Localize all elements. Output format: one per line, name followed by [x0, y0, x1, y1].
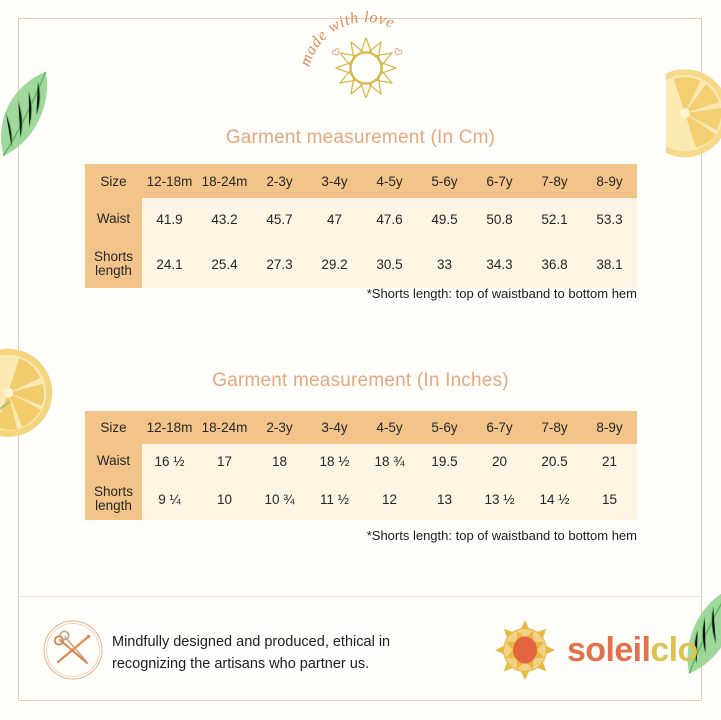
brand-wordmark: soleilclo: [567, 633, 698, 667]
column-header: 4-5y: [362, 411, 417, 444]
column-header: 5-6y: [417, 411, 472, 444]
table-cell: 11 ½: [307, 478, 362, 520]
column-header: 18-24m: [197, 411, 252, 444]
table-cell: 18 ½: [307, 444, 362, 478]
column-header: 18-24m: [197, 164, 252, 198]
table-cell: 49.5: [417, 198, 472, 240]
column-header: 3-4y: [307, 411, 362, 444]
row-header: Waist: [85, 444, 142, 478]
table-cell: 47: [307, 198, 362, 240]
table-cell: 30.5: [362, 240, 417, 288]
table-cell: 25.4: [197, 240, 252, 288]
section-title-inches: Garment measurement (In Inches): [0, 370, 721, 392]
table-cell: 18: [252, 444, 307, 478]
table-row: Shortslength 24.1 25.4 27.3 29.2 30.5 33…: [85, 240, 637, 288]
table-cell: 50.8: [472, 198, 527, 240]
table-cell: 38.1: [582, 240, 637, 288]
lemon-slice-icon: [0, 346, 62, 447]
table-cell: 10 ¾: [252, 478, 307, 520]
column-header: Size: [85, 164, 142, 198]
column-header: 6-7y: [472, 411, 527, 444]
table-cell: 53.3: [582, 198, 637, 240]
size-chart-page: made with love: [0, 0, 721, 720]
column-header: 12-18m: [142, 411, 197, 444]
table-cell: 52.1: [527, 198, 582, 240]
brand-name-soleil: soleil: [567, 631, 650, 669]
table-row: Waist 16 ½ 17 18 18 ½ 18 ¾ 19.5 20 20.5 …: [85, 444, 637, 478]
sun-icon: [336, 38, 396, 98]
footer-tagline-line2: recognizing the artisans who partner us.: [112, 656, 369, 672]
row-header-line2: length: [95, 498, 132, 513]
footer: Mindfully designed and produced, ethical…: [19, 600, 701, 700]
table-row: Waist 41.9 43.2 45.7 47 47.6 49.5 50.8 5…: [85, 198, 637, 240]
table-cell: 47.6: [362, 198, 417, 240]
table-cell: 33: [417, 240, 472, 288]
column-header: 3-4y: [307, 164, 362, 198]
table-header-row: Size 12-18m 18-24m 2-3y 3-4y 4-5y 5-6y 6…: [85, 411, 637, 444]
table-cell: 19.5: [417, 444, 472, 478]
made-with-love-text: made with love: [297, 9, 398, 69]
table-cell: 27.3: [252, 240, 307, 288]
table-cell: 41.9: [142, 198, 197, 240]
table-cell: 24.1: [142, 240, 197, 288]
leaf-icon: [0, 67, 80, 167]
table-cell: 18 ¾: [362, 444, 417, 478]
table-cell: 29.2: [307, 240, 362, 288]
table-cell: 16 ½: [142, 444, 197, 478]
row-header-line1: Shorts: [94, 249, 133, 264]
column-header: 6-7y: [472, 164, 527, 198]
size-table-inches: Size 12-18m 18-24m 2-3y 3-4y 4-5y 5-6y 6…: [85, 411, 637, 520]
table-row: Shortslength 9 ¼ 10 10 ¾ 11 ½ 12 13 13 ½…: [85, 478, 637, 520]
column-header: 12-18m: [142, 164, 197, 198]
table-cell: 20.5: [527, 444, 582, 478]
footer-tagline-line1: Mindfully designed and produced, ethical…: [112, 634, 390, 650]
table-cell: 14 ½: [527, 478, 582, 520]
footer-tagline: Mindfully designed and produced, ethical…: [112, 632, 482, 676]
column-header: Size: [85, 411, 142, 444]
column-header: 7-8y: [527, 411, 582, 444]
brand-name-clo: clo: [650, 631, 697, 669]
footer-divider: [19, 596, 701, 597]
row-header: Waist: [85, 198, 142, 240]
table-cell: 17: [197, 444, 252, 478]
page-border-frame: [18, 18, 702, 701]
row-header: Shortslength: [85, 478, 142, 520]
table-cell: 10: [197, 478, 252, 520]
table-cell: 21: [582, 444, 637, 478]
column-header: 4-5y: [362, 164, 417, 198]
column-header: 7-8y: [527, 164, 582, 198]
footnote-inches: *Shorts length: top of waistband to bott…: [0, 528, 637, 543]
row-header: Shortslength: [85, 240, 142, 288]
column-header: 5-6y: [417, 164, 472, 198]
made-with-love-logo: made with love: [296, 6, 436, 98]
row-header-line2: length: [95, 263, 132, 278]
table-cell: 13 ½: [472, 478, 527, 520]
table-cell: 45.7: [252, 198, 307, 240]
row-header-line1: Shorts: [94, 484, 133, 499]
table-cell: 43.2: [197, 198, 252, 240]
size-table-cm: Size 12-18m 18-24m 2-3y 3-4y 4-5y 5-6y 6…: [85, 164, 637, 288]
table-cell: 34.3: [472, 240, 527, 288]
column-header: 8-9y: [582, 164, 637, 198]
table-cell: 36.8: [527, 240, 582, 288]
svg-text:made with love: made with love: [297, 9, 398, 69]
column-header: 8-9y: [582, 411, 637, 444]
table-cell: 20: [472, 444, 527, 478]
sun-icon: [494, 619, 556, 681]
table-cell: 13: [417, 478, 472, 520]
footnote-cm: *Shorts length: top of waistband to bott…: [0, 286, 637, 301]
column-header: 2-3y: [252, 411, 307, 444]
table-cell: 12: [362, 478, 417, 520]
section-title-cm: Garment measurement (In Cm): [0, 127, 721, 149]
column-header: 2-3y: [252, 164, 307, 198]
table-cell: 15: [582, 478, 637, 520]
table-header-row: Size 12-18m 18-24m 2-3y 3-4y 4-5y 5-6y 6…: [85, 164, 637, 198]
table-cell: 9 ¼: [142, 478, 197, 520]
scissors-icon: [41, 618, 105, 682]
